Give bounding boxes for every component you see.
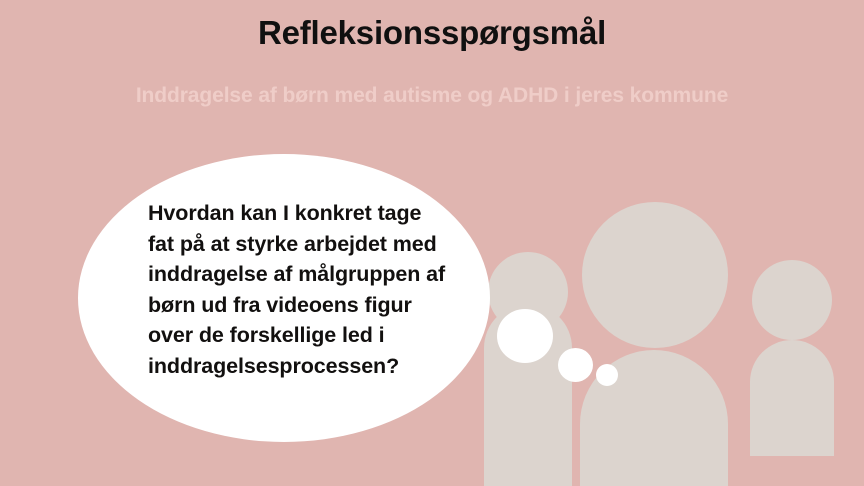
page-subtitle: Inddragelse af børn med autisme og ADHD … [0,84,864,108]
slide-canvas: Hvordan kan I konkret tage fat på at sty… [0,0,864,486]
speech-bubble-tail-dot-large [497,309,553,363]
speech-bubble-tail-dot-medium [558,348,593,382]
page-title: Refleksionsspørgsmål [0,14,864,52]
reflection-question-text: Hvordan kan I konkret tage fat på at sty… [148,198,448,381]
speech-bubble-tail-dot-small [596,364,618,386]
